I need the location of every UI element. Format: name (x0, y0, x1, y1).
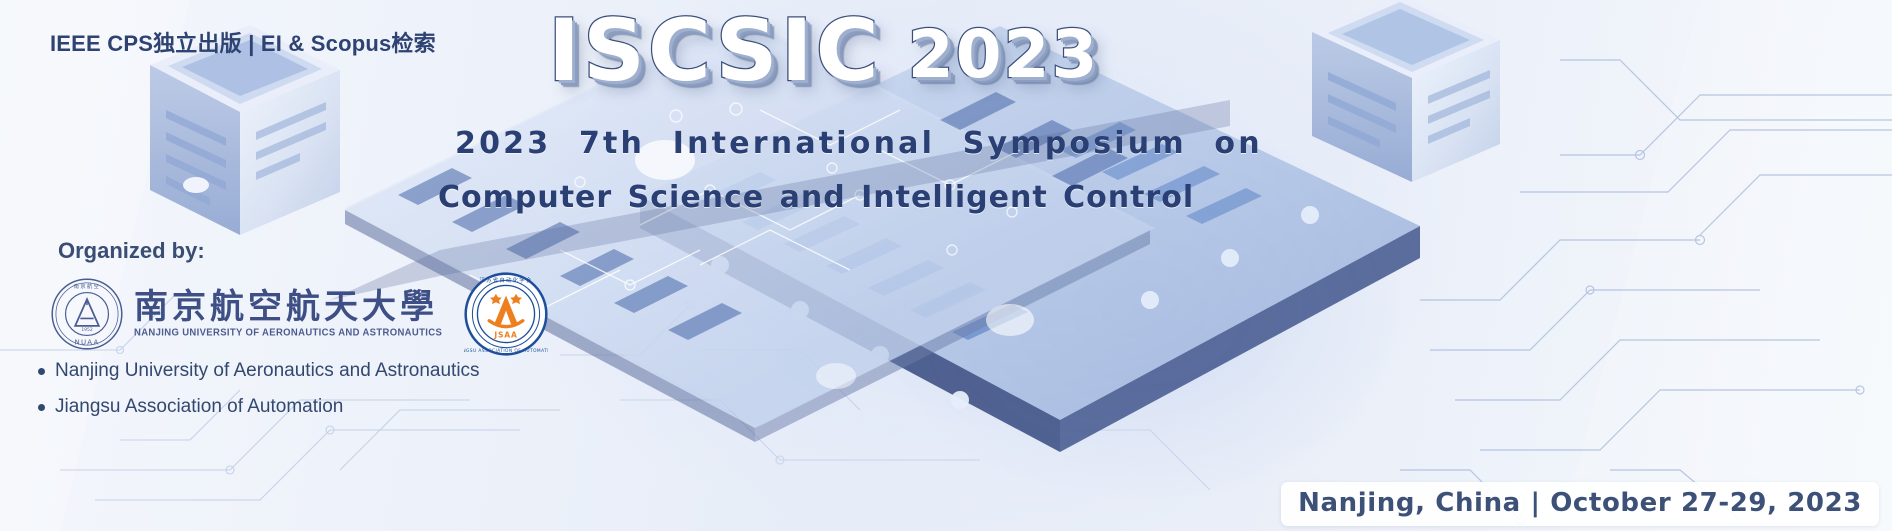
event-logo-acronym: ISCSIC (548, 8, 882, 94)
nuaa-seal-icon: 1952 NUAA 南京航空 (50, 277, 124, 351)
blue-glow (880, 120, 1400, 500)
subtitle-line-2: Computer Science and Intelligent Control (438, 180, 1194, 215)
event-logo-year: 2023 (908, 22, 1100, 88)
jsaa-seal-caption: JIANGSU ASSOCIATION OF AUTOMATION (464, 348, 548, 354)
nuaa-name-cn: 南京航空航天大學 (134, 290, 442, 326)
nuaa-logo: 1952 NUAA 南京航空 南京航空航天大學 NANJING UNIVERSI… (50, 277, 442, 351)
publication-line: IEEE CPS独立出版 | EI & Scopus检索 (50, 26, 436, 58)
organizer-logos: 1952 NUAA 南京航空 南京航空航天大學 NANJING UNIVERSI… (50, 272, 548, 356)
event-logo: ISCSIC 2023 (548, 8, 1099, 94)
date-location-badge: Nanjing, China | October 27-29, 2023 (1281, 482, 1879, 526)
nuaa-name-block: 南京航空航天大學 NANJING UNIVERSITY OF AERONAUTI… (134, 290, 442, 339)
list-item: Nanjing University of Aeronautics and As… (38, 360, 480, 382)
jsaa-seal-cn: 江苏省自动化学会 (480, 276, 533, 284)
bullet-dot-icon (38, 368, 45, 375)
svg-text:南京航空: 南京航空 (74, 282, 101, 290)
list-item: Jiangsu Association of Automation (38, 396, 480, 418)
organized-by-label: Organized by: (58, 238, 205, 264)
jsaa-seal-icon: JSAA 江苏省自动化学会 JIANGSU ASSOCIATION OF AUT… (464, 272, 548, 356)
conference-banner: IEEE CPS独立出版 | EI & Scopus检索 ISCSIC 2023… (0, 0, 1892, 531)
nuaa-name-en: NANJING UNIVERSITY OF AERONAUTICS AND AS… (134, 327, 442, 339)
nuaa-seal-year: 1952 (81, 327, 92, 333)
organizer-bullet-text: Nanjing University of Aeronautics and As… (55, 360, 480, 382)
subtitle-line-1: 2023 7th International Symposium on (455, 126, 1263, 161)
jsaa-seal-text: JSAA (494, 331, 518, 340)
bullet-dot-icon (38, 404, 45, 411)
right-server-tower (1312, 0, 1500, 182)
organizer-bullet-text: Jiangsu Association of Automation (55, 396, 343, 418)
nuaa-seal-text: NUAA (75, 337, 100, 346)
organizer-bullet-list: Nanjing University of Aeronautics and As… (38, 360, 480, 432)
